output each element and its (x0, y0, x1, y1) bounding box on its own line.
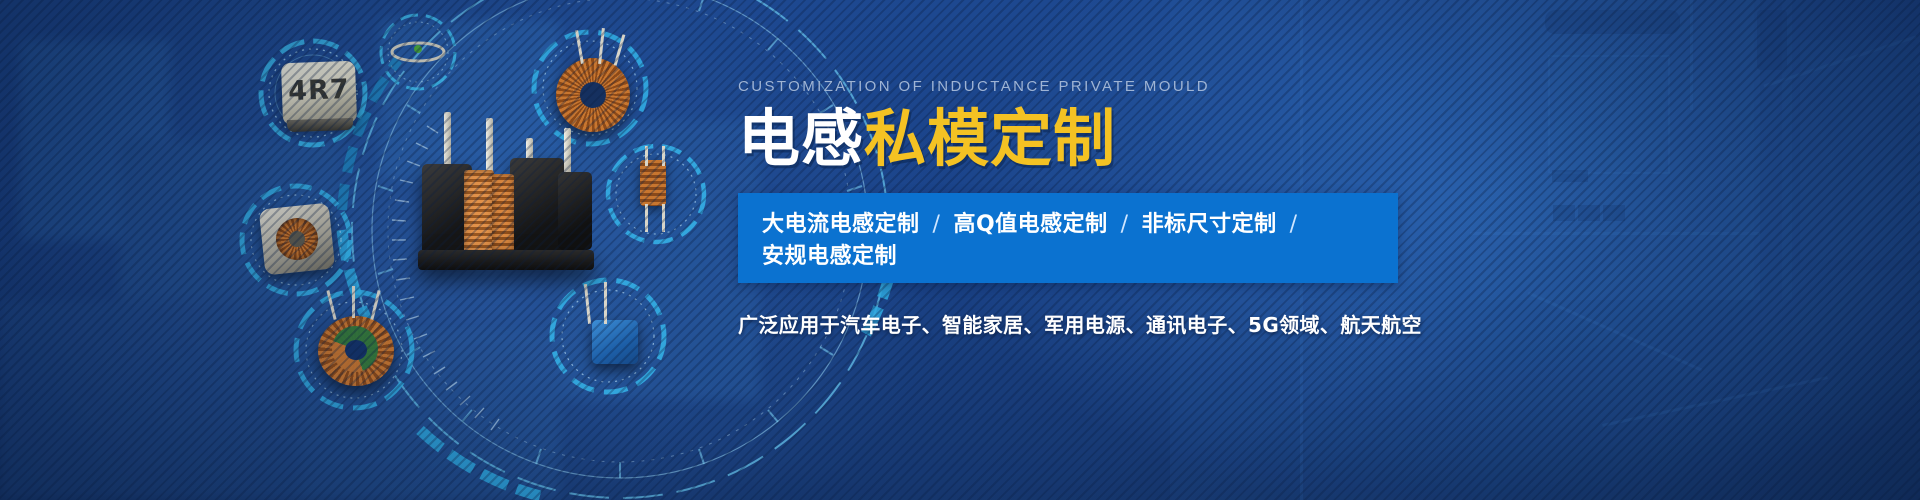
banner-tagline: 广泛应用于汽车电子、智能家居、军用电源、通讯电子、5G领域、航天航空 (738, 309, 1398, 338)
headline-yellow-part: 私模定制 (864, 102, 1116, 175)
banner-text-content: CUSTOMIZATION OF INDUCTANCE PRIVATE MOUL… (738, 78, 1398, 338)
product-ring-air-core-coil (378, 12, 458, 92)
inductor-lead-wire (604, 282, 607, 324)
product-flat-wire-inductor (259, 203, 336, 276)
product-smd-power-inductor: 4R7 (281, 61, 357, 126)
banner-eyebrow-text: CUSTOMIZATION OF INDUCTANCE PRIVATE MOUL… (738, 78, 1398, 95)
inductance-hero-banner: 4R7 (0, 0, 1920, 500)
headline-white-part: 电感 (738, 102, 864, 175)
product-green-toroid-coil (318, 316, 394, 386)
feature-item-4: 安规电感定制 (762, 244, 897, 269)
product-emi-filter-inductor-cluster (414, 112, 594, 272)
feature-separator-1: / (920, 212, 954, 237)
choke-lead-wire (352, 286, 355, 318)
feature-separator-3: / (1277, 212, 1311, 237)
feature-bar: 大电流电感定制/高Q值电感定制/非标尺寸定制/安规电感定制 (738, 193, 1398, 283)
feature-separator-2: / (1108, 212, 1142, 237)
choke-lead-wire (645, 204, 648, 232)
choke-lead-wire (662, 204, 665, 232)
feature-item-3: 非标尺寸定制 (1142, 212, 1277, 237)
banner-headline: 电感私模定制 (738, 107, 1398, 171)
product-rod-core-choke (640, 160, 666, 206)
product-label-4r7: 4R7 (281, 74, 356, 108)
product-blue-radial-inductor (592, 320, 638, 364)
feature-item-2: 高Q值电感定制 (953, 212, 1107, 237)
choke-lead-wire (645, 146, 648, 166)
choke-lead-wire (662, 146, 665, 166)
feature-item-1: 大电流电感定制 (762, 212, 920, 237)
